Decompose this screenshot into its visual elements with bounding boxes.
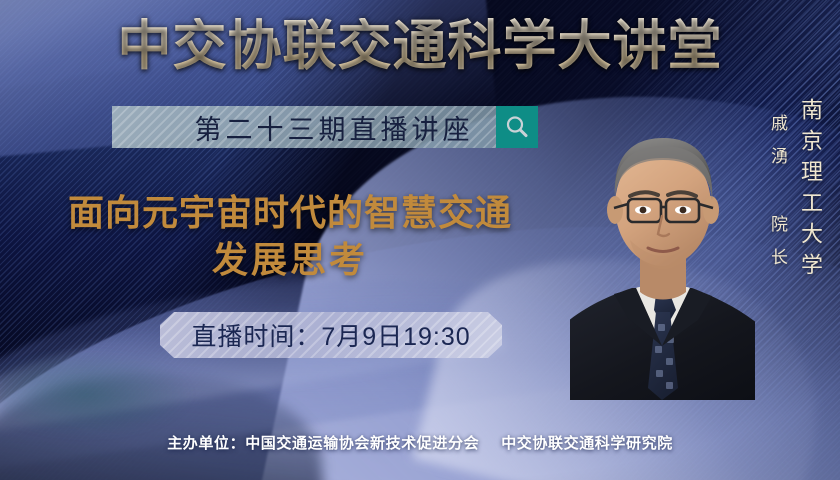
episode-label: 第二十三期直播讲座 bbox=[135, 108, 474, 147]
search-icon bbox=[504, 114, 530, 140]
episode-bar: 第二十三期直播讲座 bbox=[112, 106, 538, 148]
organizer-footer: 主办单位：中国交通运输协会新技术促进分会中交协联交通科学研究院 bbox=[0, 432, 840, 453]
broadcast-time-label: 直播时间：7月9日19:30 bbox=[191, 317, 470, 353]
page-title: 中交协联交通科学大讲堂 bbox=[0, 18, 840, 75]
speaker-affiliation: 南京理工大学 bbox=[794, 98, 826, 284]
institute-label: 中交协联交通科学研究院 bbox=[501, 435, 673, 452]
headline-line-2: 发展思考 bbox=[30, 237, 550, 284]
search-button[interactable] bbox=[496, 106, 538, 148]
speaker-name-title: 戚湧 院长 bbox=[765, 114, 790, 281]
speaker-portrait bbox=[570, 88, 755, 400]
broadcast-time-badge: 直播时间：7月9日19:30 bbox=[160, 312, 502, 358]
headline-line-1: 面向元宇宙时代的智慧交通 bbox=[30, 190, 550, 237]
teal-color-wash bbox=[0, 346, 286, 442]
episode-bar-background: 第二十三期直播讲座 bbox=[112, 106, 496, 148]
lecture-headline: 面向元宇宙时代的智慧交通 发展思考 bbox=[30, 190, 550, 284]
organizer-label: 主办单位：中国交通运输协会新技术促进分会 bbox=[167, 435, 479, 452]
speaker-credit: 戚湧 院长 南京理工大学 bbox=[765, 96, 826, 284]
webinar-poster: 中交协联交通科学大讲堂 中交协联交通科学大讲堂 第二十三期直播讲座 面向元宇宙时… bbox=[0, 0, 840, 480]
